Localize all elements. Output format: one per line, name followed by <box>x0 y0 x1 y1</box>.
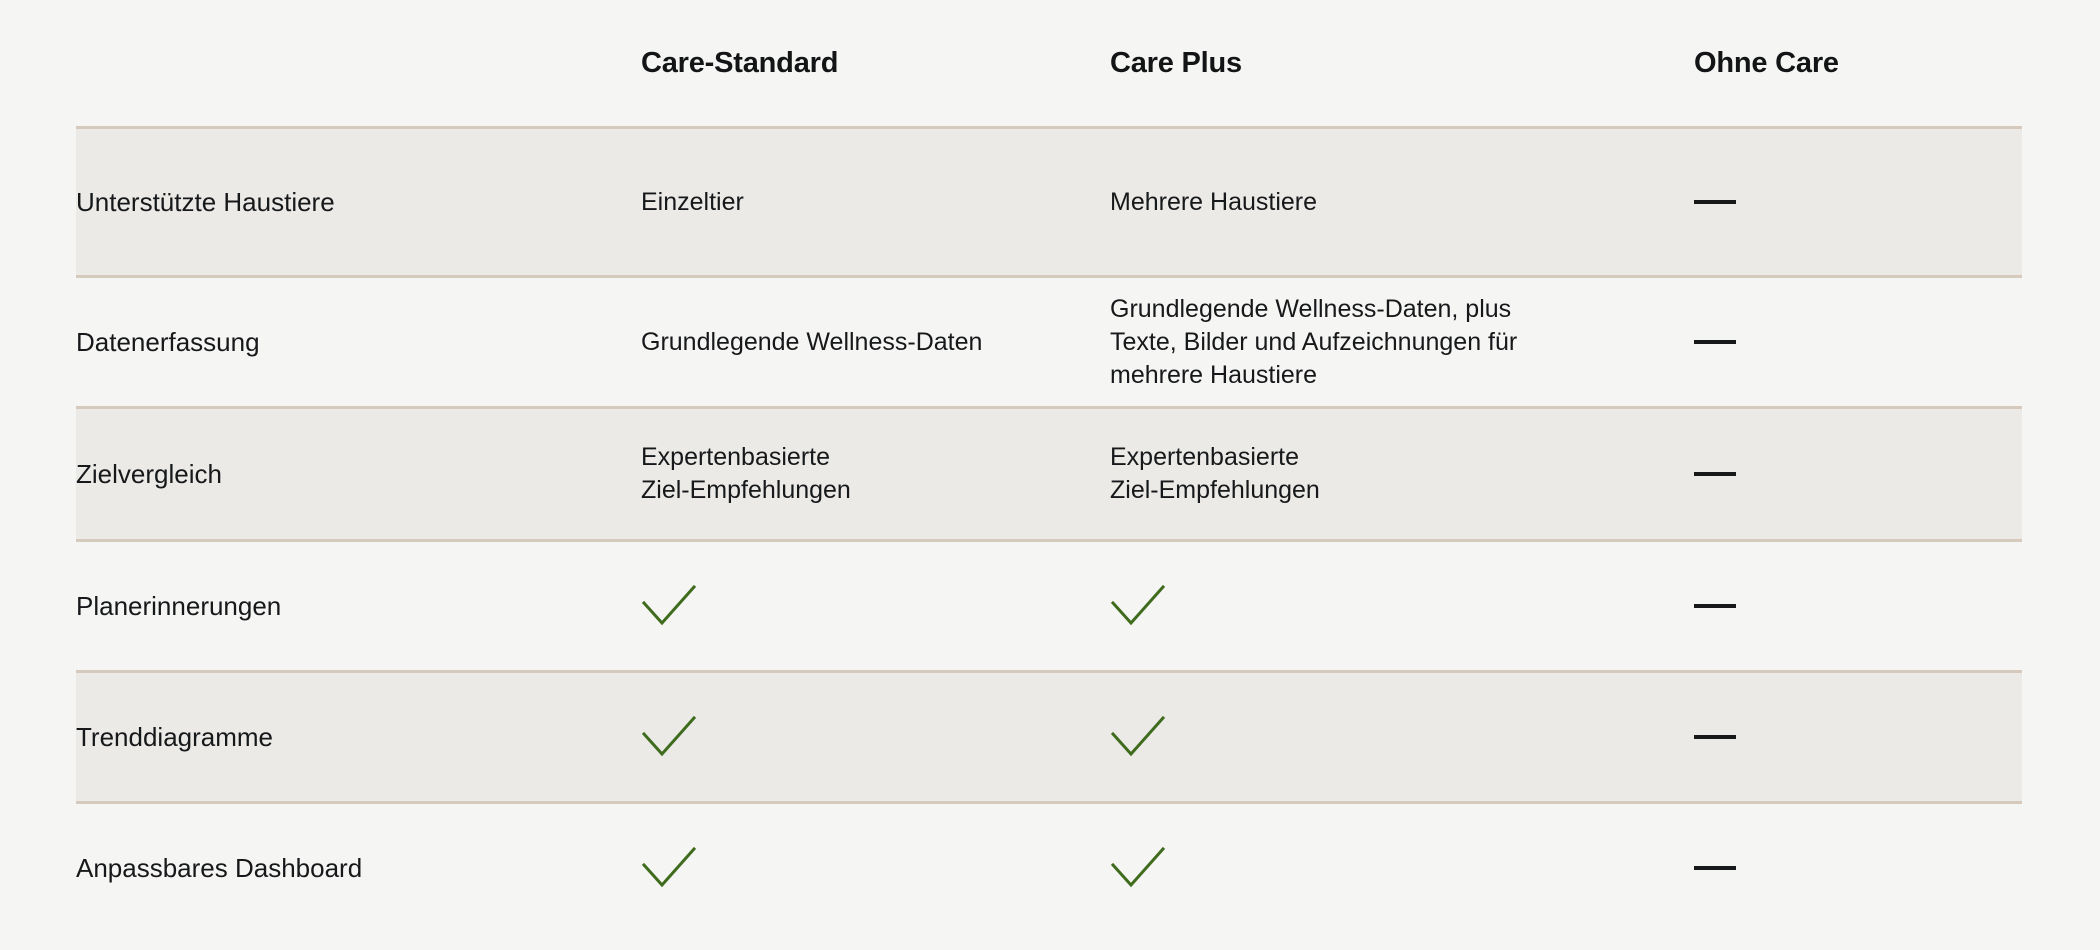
dash-icon <box>1694 472 1736 476</box>
care-plus-cell <box>1110 846 1694 890</box>
table-body: Unterstützte HaustiereEinzeltierMehrere … <box>76 126 2022 932</box>
check-icon <box>1110 846 1166 890</box>
ohne-care-cell <box>1694 604 2022 608</box>
care-standard-cell <box>641 584 1110 628</box>
feature-cell: Anpassbares Dashboard <box>76 851 641 885</box>
feature-label: Trenddiagramme <box>76 722 273 752</box>
column-header-care-plus-label: Care Plus <box>1110 47 1242 79</box>
care-standard-cell-text: Einzeltier <box>641 188 744 216</box>
care-plus-cell <box>1110 715 1694 759</box>
feature-label: Anpassbares Dashboard <box>76 853 362 883</box>
care-plus-cell <box>1110 584 1694 628</box>
check-icon <box>641 584 697 628</box>
dash-icon <box>1694 200 1736 204</box>
dash-icon <box>1694 866 1736 870</box>
feature-label: Datenerfassung <box>76 327 260 357</box>
dash-icon <box>1694 604 1736 608</box>
ohne-care-cell <box>1694 472 2022 476</box>
table-header-row: Care-Standard Care Plus Ohne Care <box>76 0 2022 126</box>
care-plus-cell-text: Grundlegende Wellness-Daten, plus Texte,… <box>1110 295 1517 389</box>
check-icon <box>1110 715 1166 759</box>
table-row: Trenddiagramme <box>76 670 2022 801</box>
table-row: Unterstützte HaustiereEinzeltierMehrere … <box>76 126 2022 275</box>
feature-label: Unterstützte Haustiere <box>76 187 335 217</box>
plan-comparison-table: Care-Standard Care Plus Ohne Care Unters… <box>76 0 2022 932</box>
dash-icon <box>1694 340 1736 344</box>
column-header-care-plus: Care Plus <box>1110 46 1694 81</box>
table-row: DatenerfassungGrundlegende Wellness-Date… <box>76 275 2022 406</box>
care-plus-cell-text: Mehrere Haustiere <box>1110 188 1317 216</box>
care-standard-cell <box>641 715 1110 759</box>
column-header-ohne-care: Ohne Care <box>1694 46 2022 81</box>
table-row: Planerinnerungen <box>76 539 2022 670</box>
table-row: Anpassbares Dashboard <box>76 801 2022 932</box>
feature-cell: Zielvergleich <box>76 457 641 491</box>
feature-cell: Unterstützte Haustiere <box>76 185 641 219</box>
feature-cell: Datenerfassung <box>76 325 641 359</box>
ohne-care-cell <box>1694 735 2022 739</box>
check-icon <box>1110 584 1166 628</box>
feature-cell: Planerinnerungen <box>76 589 641 623</box>
ohne-care-cell <box>1694 200 2022 204</box>
ohne-care-cell <box>1694 340 2022 344</box>
care-standard-cell: Grundlegende Wellness-Daten <box>641 326 1110 359</box>
care-standard-cell-text: Grundlegende Wellness-Daten <box>641 328 982 356</box>
care-plus-cell: Mehrere Haustiere <box>1110 186 1694 219</box>
care-standard-cell <box>641 846 1110 890</box>
check-icon <box>641 846 697 890</box>
feature-cell: Trenddiagramme <box>76 720 641 754</box>
care-plus-cell: Grundlegende Wellness-Daten, plus Texte,… <box>1110 293 1694 392</box>
feature-label: Planerinnerungen <box>76 591 281 621</box>
ohne-care-cell <box>1694 866 2022 870</box>
care-plus-cell: Expertenbasierte Ziel-Empfehlungen <box>1110 441 1694 507</box>
care-standard-cell: Expertenbasierte Ziel-Empfehlungen <box>641 441 1110 507</box>
column-header-ohne-care-label: Ohne Care <box>1694 47 1839 79</box>
care-plus-cell-text: Expertenbasierte Ziel-Empfehlungen <box>1110 443 1320 504</box>
column-header-care-standard: Care-Standard <box>641 46 1110 81</box>
check-icon <box>641 715 697 759</box>
table-row: ZielvergleichExpertenbasierte Ziel-Empfe… <box>76 406 2022 539</box>
dash-icon <box>1694 735 1736 739</box>
care-standard-cell: Einzeltier <box>641 186 1110 219</box>
feature-label: Zielvergleich <box>76 459 222 489</box>
comparison-page: Care-Standard Care Plus Ohne Care Unters… <box>0 0 2100 950</box>
column-header-care-standard-label: Care-Standard <box>641 47 838 79</box>
care-standard-cell-text: Expertenbasierte Ziel-Empfehlungen <box>641 443 851 504</box>
